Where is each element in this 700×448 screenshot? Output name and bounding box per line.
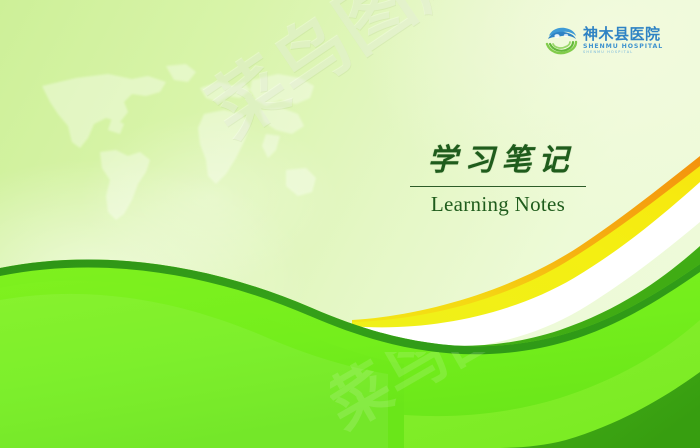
hospital-name-chinese: 神木县医院: [583, 27, 663, 42]
title-chinese: 学习笔记: [408, 143, 588, 180]
decorative-wave-graphics: [0, 0, 700, 448]
notebook-cover: 菜鸟图库: [0, 0, 700, 448]
hospital-name-english-sub: SHENMU HOSPITAL: [583, 51, 663, 54]
title-divider: [410, 186, 586, 187]
cover-title-block: 学习笔记 Learning Notes: [408, 143, 588, 217]
hospital-logo: 神木县医院 SHENMU HOSPITAL SHENMU HOSPITAL: [545, 25, 663, 56]
shenmu-hospital-wave-logo-icon: [545, 25, 578, 56]
hospital-logo-text: 神木县医院 SHENMU HOSPITAL SHENMU HOSPITAL: [583, 26, 663, 54]
title-english: Learning Notes: [408, 192, 588, 217]
